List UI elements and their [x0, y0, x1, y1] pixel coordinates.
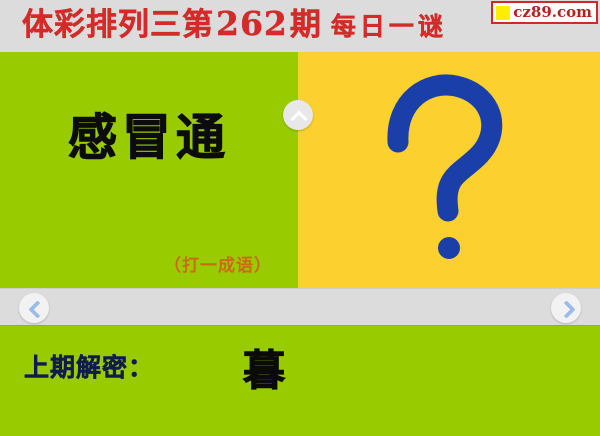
riddle-widget: 体彩排列三第262期每日一谜 cz89.com 感冒通 （打一成语）	[0, 0, 600, 436]
question-mark-icon	[376, 70, 526, 270]
previous-answer-value: 暮	[243, 337, 285, 398]
title-issue-suffix: 期	[290, 7, 322, 43]
previous-button[interactable]	[19, 293, 49, 323]
site-watermark-logo: cz89.com	[491, 1, 598, 24]
chevron-left-icon	[28, 302, 40, 314]
riddle-area: 感冒通 （打一成语）	[0, 52, 600, 288]
logo-text: cz89.com	[513, 5, 592, 20]
header-bar: 体彩排列三第262期每日一谜 cz89.com	[0, 0, 600, 52]
next-button[interactable]	[551, 293, 581, 323]
riddle-answer-placeholder-panel	[298, 52, 600, 288]
previous-answer-label: 上期解密：	[24, 348, 154, 384]
title-issue-number: 262	[214, 4, 290, 43]
chevron-right-icon	[560, 302, 572, 314]
riddle-question-panel: 感冒通 （打一成语）	[0, 52, 298, 288]
page-title: 体彩排列三第262期每日一谜	[22, 2, 447, 49]
title-subtitle: 每日一谜	[322, 12, 447, 41]
navigation-bar	[0, 288, 600, 326]
previous-answer-panel: 上期解密： 暮	[0, 325, 600, 436]
riddle-hint-text: （打一成语）	[164, 251, 272, 276]
collapse-toggle-button[interactable]	[283, 100, 313, 130]
title-main-text: 体彩排列三第	[22, 7, 214, 43]
riddle-question-text: 感冒通	[0, 108, 298, 166]
chevron-up-icon	[292, 109, 305, 122]
question-mark-container	[298, 52, 600, 288]
logo-square-icon	[496, 6, 510, 20]
